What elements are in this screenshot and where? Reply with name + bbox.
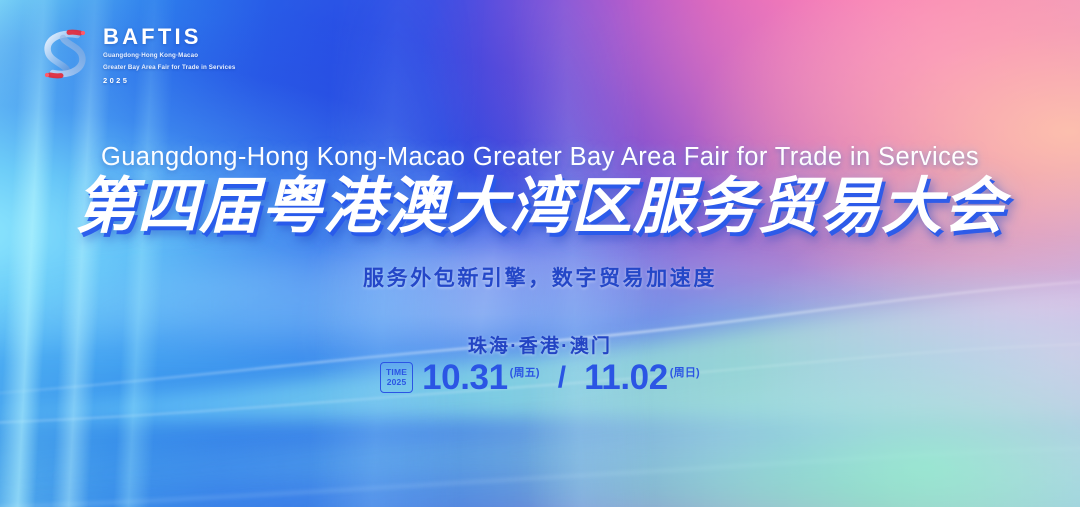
logo-year: 2025	[103, 77, 235, 85]
swirl-s-ribbon-icon	[36, 24, 94, 84]
date-separator: /	[558, 363, 566, 393]
end-date-group: 11.02 (周日)	[584, 360, 700, 395]
chinese-title: 第四届粤港澳大湾区服务贸易大会	[0, 174, 1080, 240]
time-badge: TIME 2025	[380, 362, 413, 393]
baftis-logo: BAFTIS Guangdong·Hong Kong·Macao Greater…	[36, 24, 235, 84]
end-date: 11.02	[584, 360, 668, 395]
logo-title: BAFTIS	[103, 26, 235, 48]
venue-cities: 珠海·香港·澳门	[0, 331, 1080, 358]
logo-subtitle-line-2: Greater Bay Area Fair for Trade in Servi…	[103, 63, 235, 72]
event-poster: BAFTIS Guangdong·Hong Kong·Macao Greater…	[0, 0, 1080, 507]
slogan: 服务外包新引擎，数字贸易加速度	[0, 262, 1080, 292]
background-crest-line-3	[0, 392, 1080, 507]
start-weekday: (周五)	[510, 364, 540, 380]
event-date-row: TIME 2025 10.31 (周五) / 11.02 (周日)	[0, 360, 1080, 395]
time-badge-year: 2025	[387, 378, 407, 388]
logo-text-block: BAFTIS Guangdong·Hong Kong·Macao Greater…	[103, 24, 235, 84]
start-date-group: 10.31 (周五)	[422, 360, 540, 395]
end-weekday: (周日)	[670, 364, 700, 380]
logo-subtitle-line-1: Guangdong·Hong Kong·Macao	[103, 51, 235, 60]
english-title: Guangdong-Hong Kong-Macao Greater Bay Ar…	[0, 143, 1080, 172]
start-date: 10.31	[422, 360, 508, 395]
